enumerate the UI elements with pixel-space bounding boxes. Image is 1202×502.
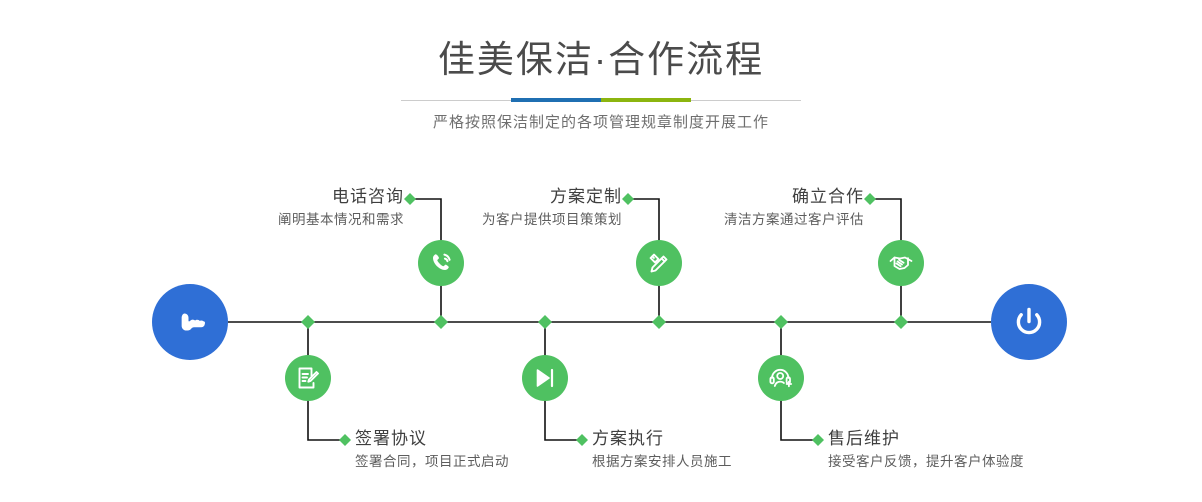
step-title-3: 方案定制 <box>398 186 622 208</box>
cooperation-process-infographic: 佳美保洁·合作流程 严格按照保洁制定的各项管理规章制度开展工作 <box>0 0 1202 502</box>
end-endpoint <box>991 284 1067 360</box>
label-diamond-4 <box>576 434 588 446</box>
step-desc-5: 清洁方案通过客户评估 <box>636 210 864 230</box>
document-edit-icon <box>294 364 322 392</box>
handshake-icon <box>887 249 915 277</box>
step-desc-3: 为客户提供项目策策划 <box>398 210 622 230</box>
step-node-5 <box>878 240 924 286</box>
axis-diamond-3 <box>652 315 666 329</box>
step-label-4: 方案执行 根据方案安排人员施工 <box>592 428 732 472</box>
phone-call-icon <box>427 249 455 277</box>
label-diamond-3 <box>622 193 634 205</box>
step-node-2 <box>285 355 331 401</box>
step-desc-4: 根据方案安排人员施工 <box>592 452 732 472</box>
timeline-connectors <box>0 0 1202 502</box>
step-label-2: 签署协议 签署合同，项目正式启动 <box>355 428 509 472</box>
pencil-ruler-icon <box>645 249 673 277</box>
power-icon <box>1008 301 1050 343</box>
step-label-5: 确立合作 清洁方案通过客户评估 <box>636 186 864 230</box>
step-title-5: 确立合作 <box>636 186 864 208</box>
step-label-1: 电话咨询 阐明基本情况和需求 <box>180 186 404 230</box>
axis-diamond-2 <box>301 315 315 329</box>
customer-support-icon <box>767 364 795 392</box>
axis-diamond-4 <box>538 315 552 329</box>
step-desc-2: 签署合同，项目正式启动 <box>355 452 509 472</box>
axis-diamond-6 <box>774 315 788 329</box>
step-title-4: 方案执行 <box>592 428 732 450</box>
axis-diamond-5 <box>894 315 908 329</box>
axis-diamond-1 <box>434 315 448 329</box>
step-label-6: 售后维护 接受客户反馈，提升客户体验度 <box>828 428 1024 472</box>
label-diamond-6 <box>812 434 824 446</box>
step-node-6 <box>758 355 804 401</box>
step-node-1 <box>418 240 464 286</box>
step-title-1: 电话咨询 <box>180 186 404 208</box>
step-desc-1: 阐明基本情况和需求 <box>180 210 404 230</box>
label-diamond-2 <box>339 434 351 446</box>
step-desc-6: 接受客户反馈，提升客户体验度 <box>828 452 1024 472</box>
step-label-3: 方案定制 为客户提供项目策策划 <box>398 186 622 230</box>
step-node-4 <box>522 355 568 401</box>
step-node-3 <box>636 240 682 286</box>
label-diamond-5 <box>864 193 876 205</box>
step-title-2: 签署协议 <box>355 428 509 450</box>
play-execute-icon <box>531 364 559 392</box>
start-endpoint <box>152 284 228 360</box>
pointing-hand-icon <box>168 300 212 344</box>
step-title-6: 售后维护 <box>828 428 1024 450</box>
